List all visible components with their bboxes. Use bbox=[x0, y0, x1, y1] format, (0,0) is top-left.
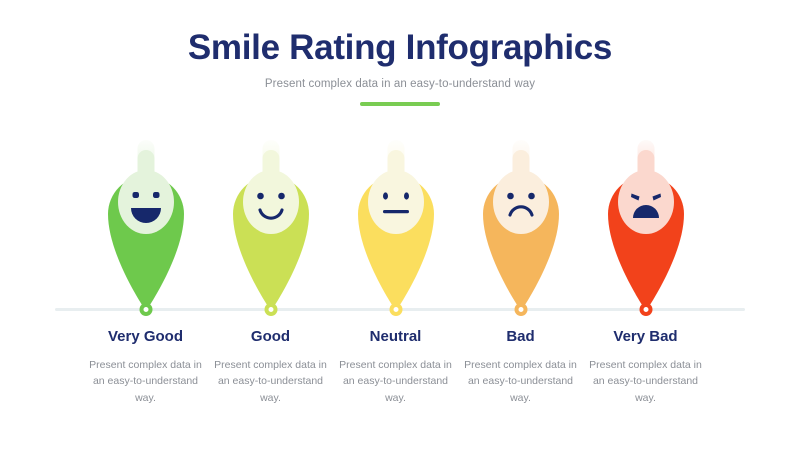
rating-description: Present complex data in an easy-to-under… bbox=[208, 357, 333, 406]
rating-description: Present complex data in an easy-to-under… bbox=[333, 357, 458, 406]
timeline-marker-dot[interactable] bbox=[139, 303, 152, 316]
rating-label: Very Good bbox=[83, 328, 208, 346]
rating-description: Present complex data in an easy-to-under… bbox=[583, 357, 708, 406]
header: Smile Rating Infographics Present comple… bbox=[0, 28, 800, 106]
rating-column[interactable]: Very Good Present complex data in an eas… bbox=[83, 140, 208, 406]
rating-column[interactable]: Good Present complex data in an easy-to-… bbox=[208, 140, 333, 406]
timeline-marker-dot[interactable] bbox=[264, 303, 277, 316]
rating-label: Bad bbox=[458, 328, 583, 346]
infographic-slide: Smile Rating Infographics Present comple… bbox=[0, 0, 800, 450]
rating-column[interactable]: Neutral Present complex data in an easy-… bbox=[333, 140, 458, 406]
rating-label: Very Bad bbox=[583, 328, 708, 346]
pin-marker[interactable] bbox=[83, 140, 208, 312]
pin-icon bbox=[83, 140, 208, 312]
rating-description: Present complex data in an easy-to-under… bbox=[458, 357, 583, 406]
rating-description: Present complex data in an easy-to-under… bbox=[83, 357, 208, 406]
timeline-marker-dot[interactable] bbox=[639, 303, 652, 316]
rating-columns: Very Good Present complex data in an eas… bbox=[0, 140, 800, 440]
page-subtitle: Present complex data in an easy-to-under… bbox=[0, 78, 800, 90]
rating-label: Neutral bbox=[333, 328, 458, 346]
timeline-marker-dot[interactable] bbox=[389, 303, 402, 316]
pin-marker[interactable] bbox=[583, 140, 708, 312]
accent-divider bbox=[360, 102, 440, 106]
rating-column[interactable]: Bad Present complex data in an easy-to-u… bbox=[458, 140, 583, 406]
pin-icon bbox=[333, 140, 458, 312]
rating-label: Good bbox=[208, 328, 333, 346]
pin-icon bbox=[583, 140, 708, 312]
rating-column[interactable]: Very Bad Present complex data in an easy… bbox=[583, 140, 708, 406]
pin-marker[interactable] bbox=[333, 140, 458, 312]
page-title: Smile Rating Infographics bbox=[0, 28, 800, 68]
pin-marker[interactable] bbox=[458, 140, 583, 312]
timeline-marker-dot[interactable] bbox=[514, 303, 527, 316]
pin-icon bbox=[208, 140, 333, 312]
pin-icon bbox=[458, 140, 583, 312]
pin-marker[interactable] bbox=[208, 140, 333, 312]
